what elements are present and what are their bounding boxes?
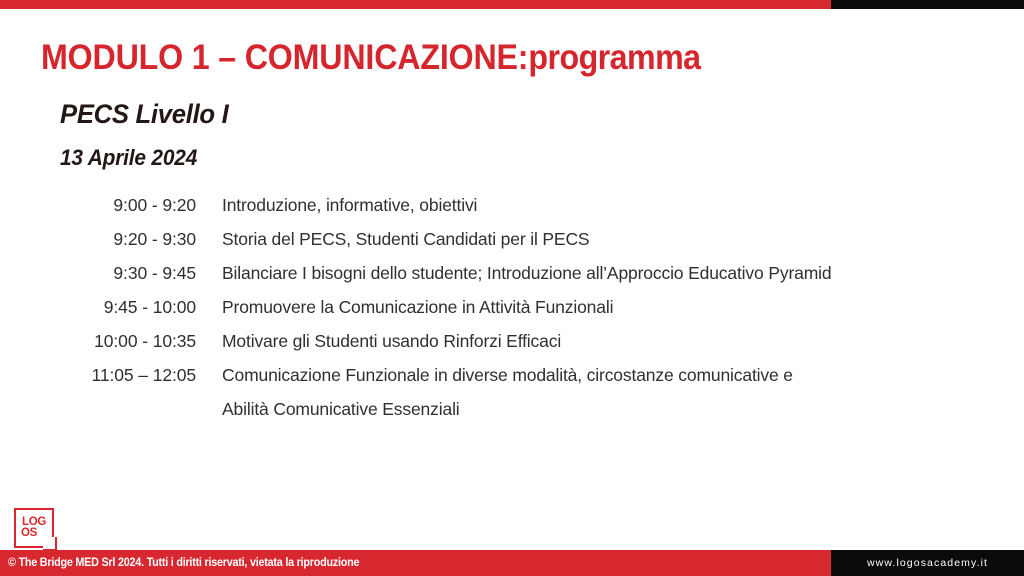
schedule-time: 9:30 - 9:45 (72, 261, 196, 286)
schedule-time: 11:05 – 12:05 (72, 363, 196, 388)
schedule-description: Promuovere la Comunicazione in Attività … (222, 295, 613, 320)
top-accent-bar-red (0, 0, 831, 9)
schedule-list: 9:00 - 9:20 Introduzione, informative, o… (72, 193, 1002, 431)
schedule-row: 9:30 - 9:45 Bilanciare I bisogni dello s… (72, 261, 1002, 295)
schedule-row: 10:00 - 10:35 Motivare gli Studenti usan… (72, 329, 1002, 363)
footer-website-area: www.logosacademy.it (831, 550, 1024, 576)
schedule-description: Motivare gli Studenti usando Rinforzi Ef… (222, 329, 561, 354)
page-title-lower: programma (528, 38, 700, 77)
schedule-row-continuation: Abilità Comunicative Essenziali (72, 397, 1002, 431)
schedule-description: Bilanciare I bisogni dello studente; Int… (222, 261, 831, 286)
logo-line-two: OS (21, 528, 37, 540)
course-date: 13 Aprile 2024 (60, 144, 197, 172)
slide-canvas: MODULO 1 – COMUNICAZIONE:programma PECS … (0, 0, 1024, 576)
logo-wordmark: LOG OS (14, 508, 54, 548)
schedule-description: Abilità Comunicative Essenziali (222, 397, 460, 422)
schedule-row: 9:00 - 9:20 Introduzione, informative, o… (72, 193, 1002, 227)
schedule-row: 11:05 – 12:05 Comunicazione Funzionale i… (72, 363, 1002, 397)
schedule-description: Storia del PECS, Studenti Candidati per … (222, 227, 589, 252)
schedule-time: 9:45 - 10:00 (72, 295, 196, 320)
page-title-caps: MODULO 1 – COMUNICAZIONE: (41, 38, 528, 77)
footer-bar: © The Bridge MED Srl 2024. Tutti i dirit… (0, 550, 1024, 576)
schedule-description: Introduzione, informative, obiettivi (222, 193, 477, 218)
schedule-time: 9:20 - 9:30 (72, 227, 196, 252)
logos-logo: LOG OS (14, 508, 54, 548)
page-title: MODULO 1 – COMUNICAZIONE:programma (41, 36, 701, 80)
schedule-row: 9:20 - 9:30 Storia del PECS, Studenti Ca… (72, 227, 1002, 261)
footer-website-text: www.logosacademy.it (867, 557, 988, 570)
top-accent-bar-black (831, 0, 1024, 9)
schedule-time: 9:00 - 9:20 (72, 193, 196, 218)
course-subtitle: PECS Livello I (60, 98, 228, 130)
schedule-time: 10:00 - 10:35 (72, 329, 196, 354)
top-accent-bar (0, 0, 1024, 9)
footer-copyright-area: © The Bridge MED Srl 2024. Tutti i dirit… (0, 550, 831, 576)
schedule-row: 9:45 - 10:00 Promuovere la Comunicazione… (72, 295, 1002, 329)
footer-copyright-text: © The Bridge MED Srl 2024. Tutti i dirit… (8, 557, 359, 570)
schedule-description: Comunicazione Funzionale in diverse moda… (222, 363, 793, 388)
